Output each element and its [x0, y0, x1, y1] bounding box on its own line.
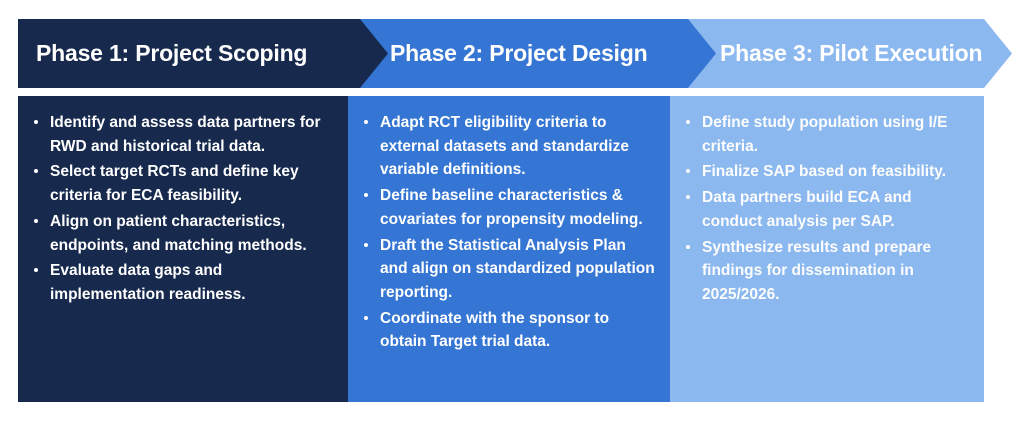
phase-body-row: Identify and assess data partners for RW…	[18, 96, 984, 402]
list-item-text: Select target RCTs and define key criter…	[50, 163, 299, 204]
list-item-text: Synthesize results and prepare findings …	[702, 239, 931, 303]
bullet-dot-icon	[686, 245, 690, 249]
list-item-text: Finalize SAP based on feasibility.	[702, 163, 946, 180]
list-item: Identify and assess data partners for RW…	[28, 111, 334, 158]
phase-header-2-label: Phase 2: Project Design	[390, 40, 647, 67]
list-item: Align on patient characteristics, endpoi…	[28, 210, 334, 257]
list-item-text: Draft the Statistical Analysis Plan and …	[380, 237, 655, 301]
list-item: Data partners build ECA and conduct anal…	[680, 186, 970, 233]
list-item: Define study population using I/E criter…	[680, 111, 970, 158]
phase-1-bullet-list: Identify and assess data partners for RW…	[28, 111, 334, 307]
bullet-dot-icon	[34, 169, 38, 173]
list-item: Finalize SAP based on feasibility.	[680, 160, 970, 184]
list-item: Synthesize results and prepare findings …	[680, 236, 970, 307]
bullet-dot-icon	[34, 219, 38, 223]
list-item-text: Coordinate with the sponsor to obtain Ta…	[380, 310, 609, 351]
list-item: Coordinate with the sponsor to obtain Ta…	[358, 307, 656, 354]
list-item: Define baseline characteristics & covari…	[358, 184, 656, 231]
list-item-text: Identify and assess data partners for RW…	[50, 114, 320, 155]
phase-body-2: Adapt RCT eligibility criteria to extern…	[348, 96, 670, 402]
bullet-dot-icon	[364, 193, 368, 197]
phase-header-2[interactable]: Phase 2: Project Design	[342, 19, 716, 88]
list-item-text: Adapt RCT eligibility criteria to extern…	[380, 114, 629, 178]
bullet-dot-icon	[364, 316, 368, 320]
bullet-dot-icon	[686, 120, 690, 124]
process-diagram: Phase 1: Project Scoping Phase 2: Projec…	[0, 0, 1024, 430]
phase-header-row: Phase 1: Project Scoping Phase 2: Projec…	[18, 19, 1012, 88]
bullet-dot-icon	[364, 243, 368, 247]
bullet-dot-icon	[686, 195, 690, 199]
list-item-text: Define baseline characteristics & covari…	[380, 187, 643, 228]
bullet-dot-icon	[686, 169, 690, 173]
list-item-text: Define study population using I/E criter…	[702, 114, 947, 155]
phase-header-1[interactable]: Phase 1: Project Scoping	[18, 19, 388, 88]
phase-header-1-label: Phase 1: Project Scoping	[36, 40, 307, 67]
phase-3-bullet-list: Define study population using I/E criter…	[680, 111, 970, 307]
list-item: Draft the Statistical Analysis Plan and …	[358, 234, 656, 305]
list-item-text: Evaluate data gaps and implementation re…	[50, 262, 246, 303]
phase-body-1: Identify and assess data partners for RW…	[18, 96, 348, 402]
phase-header-3[interactable]: Phase 3: Pilot Execution	[670, 19, 1012, 88]
phase-header-3-label: Phase 3: Pilot Execution	[720, 40, 982, 67]
phase-body-3: Define study population using I/E criter…	[670, 96, 984, 402]
list-item: Select target RCTs and define key criter…	[28, 160, 334, 207]
list-item-text: Data partners build ECA and conduct anal…	[702, 189, 912, 230]
list-item: Evaluate data gaps and implementation re…	[28, 259, 334, 306]
bullet-dot-icon	[34, 120, 38, 124]
list-item: Adapt RCT eligibility criteria to extern…	[358, 111, 656, 182]
list-item-text: Align on patient characteristics, endpoi…	[50, 213, 307, 254]
bullet-dot-icon	[364, 120, 368, 124]
phase-2-bullet-list: Adapt RCT eligibility criteria to extern…	[358, 111, 656, 354]
bullet-dot-icon	[34, 268, 38, 272]
